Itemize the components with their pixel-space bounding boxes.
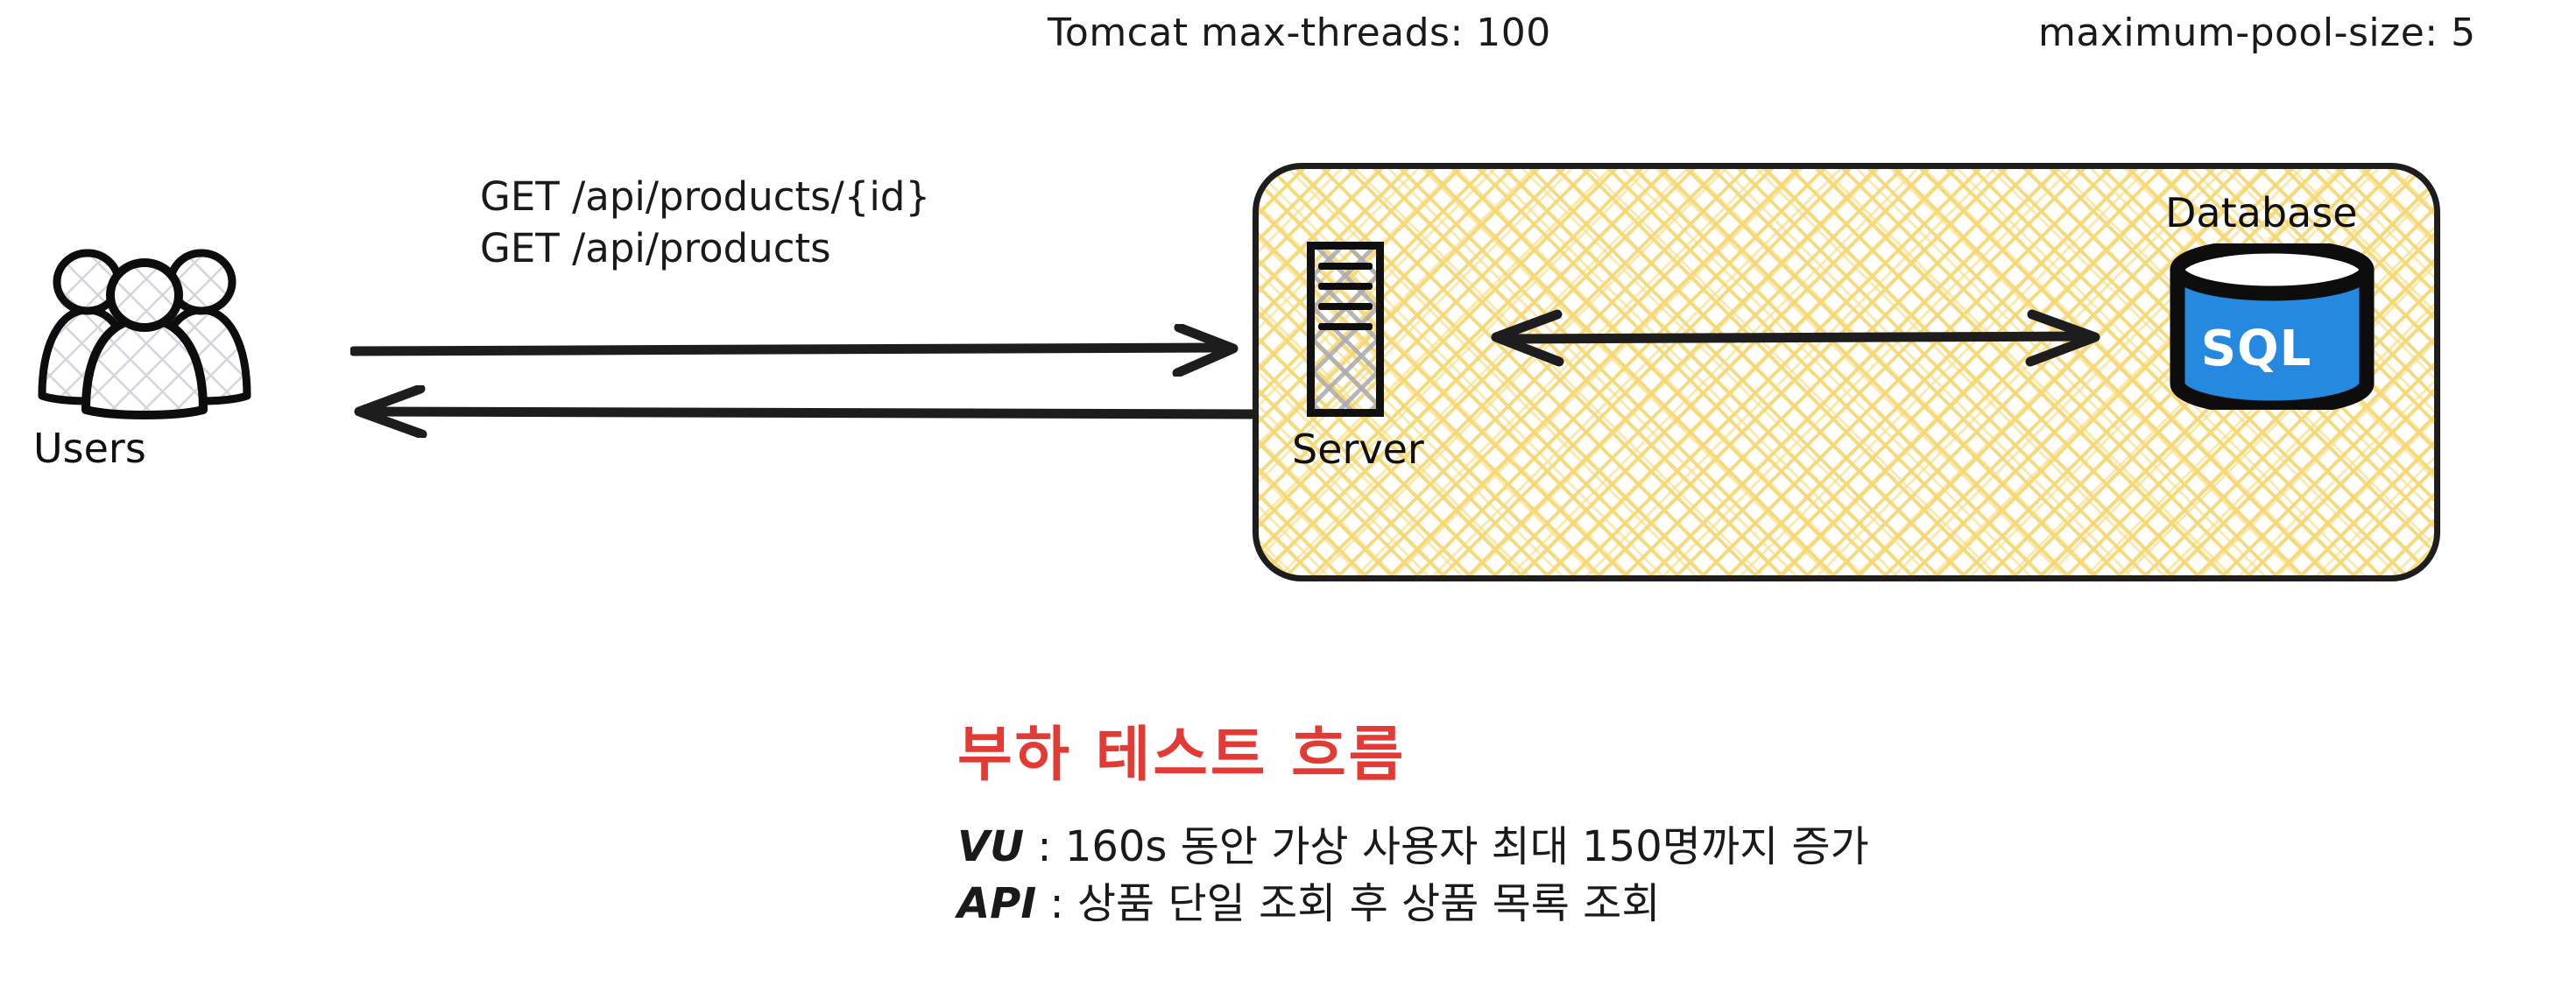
database-engine-label: SQL — [2153, 320, 2360, 377]
diagram-canvas: Tomcat max-threads: 100 maximum-pool-siz… — [0, 0, 2576, 986]
description-line-text: 상품 단일 조회 후 상품 목록 조회 — [1077, 879, 1661, 928]
users-group-icon — [18, 245, 272, 420]
request-arrow-right-icon — [350, 324, 1261, 377]
database-label: Database — [2165, 189, 2358, 236]
maximum-pool-size-label: maximum-pool-size: 5 — [2038, 11, 2476, 55]
database-node: Database SQL — [2153, 189, 2407, 417]
users-node: Users — [9, 245, 272, 508]
request-endpoint-line: GET /api/products/{id} — [480, 172, 930, 223]
load-test-description: 부하 테스트 흐름 VU : 160s 동안 가상 사용자 최대 150명까지 … — [957, 706, 1869, 933]
description-line-key: API — [957, 879, 1036, 928]
description-line: API : 상품 단일 조회 후 상품 목록 조회 — [957, 876, 1869, 933]
request-endpoint-labels: GET /api/products/{id} GET /api/products — [480, 172, 930, 274]
server-rack-bar — [1318, 303, 1373, 310]
server-rack-bar — [1318, 323, 1373, 330]
description-line-text: 160s 동안 가상 사용자 최대 150명까지 증가 — [1065, 822, 1869, 871]
server-rack-bar — [1318, 263, 1373, 270]
server-rack-bar — [1318, 283, 1373, 290]
description-line-separator: : — [1036, 879, 1077, 928]
description-line-separator: : — [1024, 822, 1065, 871]
server-container: Server Database SQL — [1253, 163, 2440, 581]
server-label: Server — [1292, 426, 1424, 473]
tomcat-max-threads-label: Tomcat max-threads: 100 — [1048, 11, 1551, 55]
request-endpoint-line: GET /api/products — [480, 223, 930, 275]
server-database-double-arrow-icon — [1489, 307, 2102, 369]
description-line: VU : 160s 동안 가상 사용자 최대 150명까지 증가 — [957, 819, 1869, 876]
description-line-key: VU — [957, 822, 1024, 871]
users-label: Users — [33, 425, 146, 472]
server-rack-bar — [1318, 242, 1373, 249]
server-rack-icon — [1307, 242, 1384, 417]
response-arrow-left-icon — [350, 385, 1261, 438]
load-test-heading: 부하 테스트 흐름 — [957, 706, 1869, 792]
